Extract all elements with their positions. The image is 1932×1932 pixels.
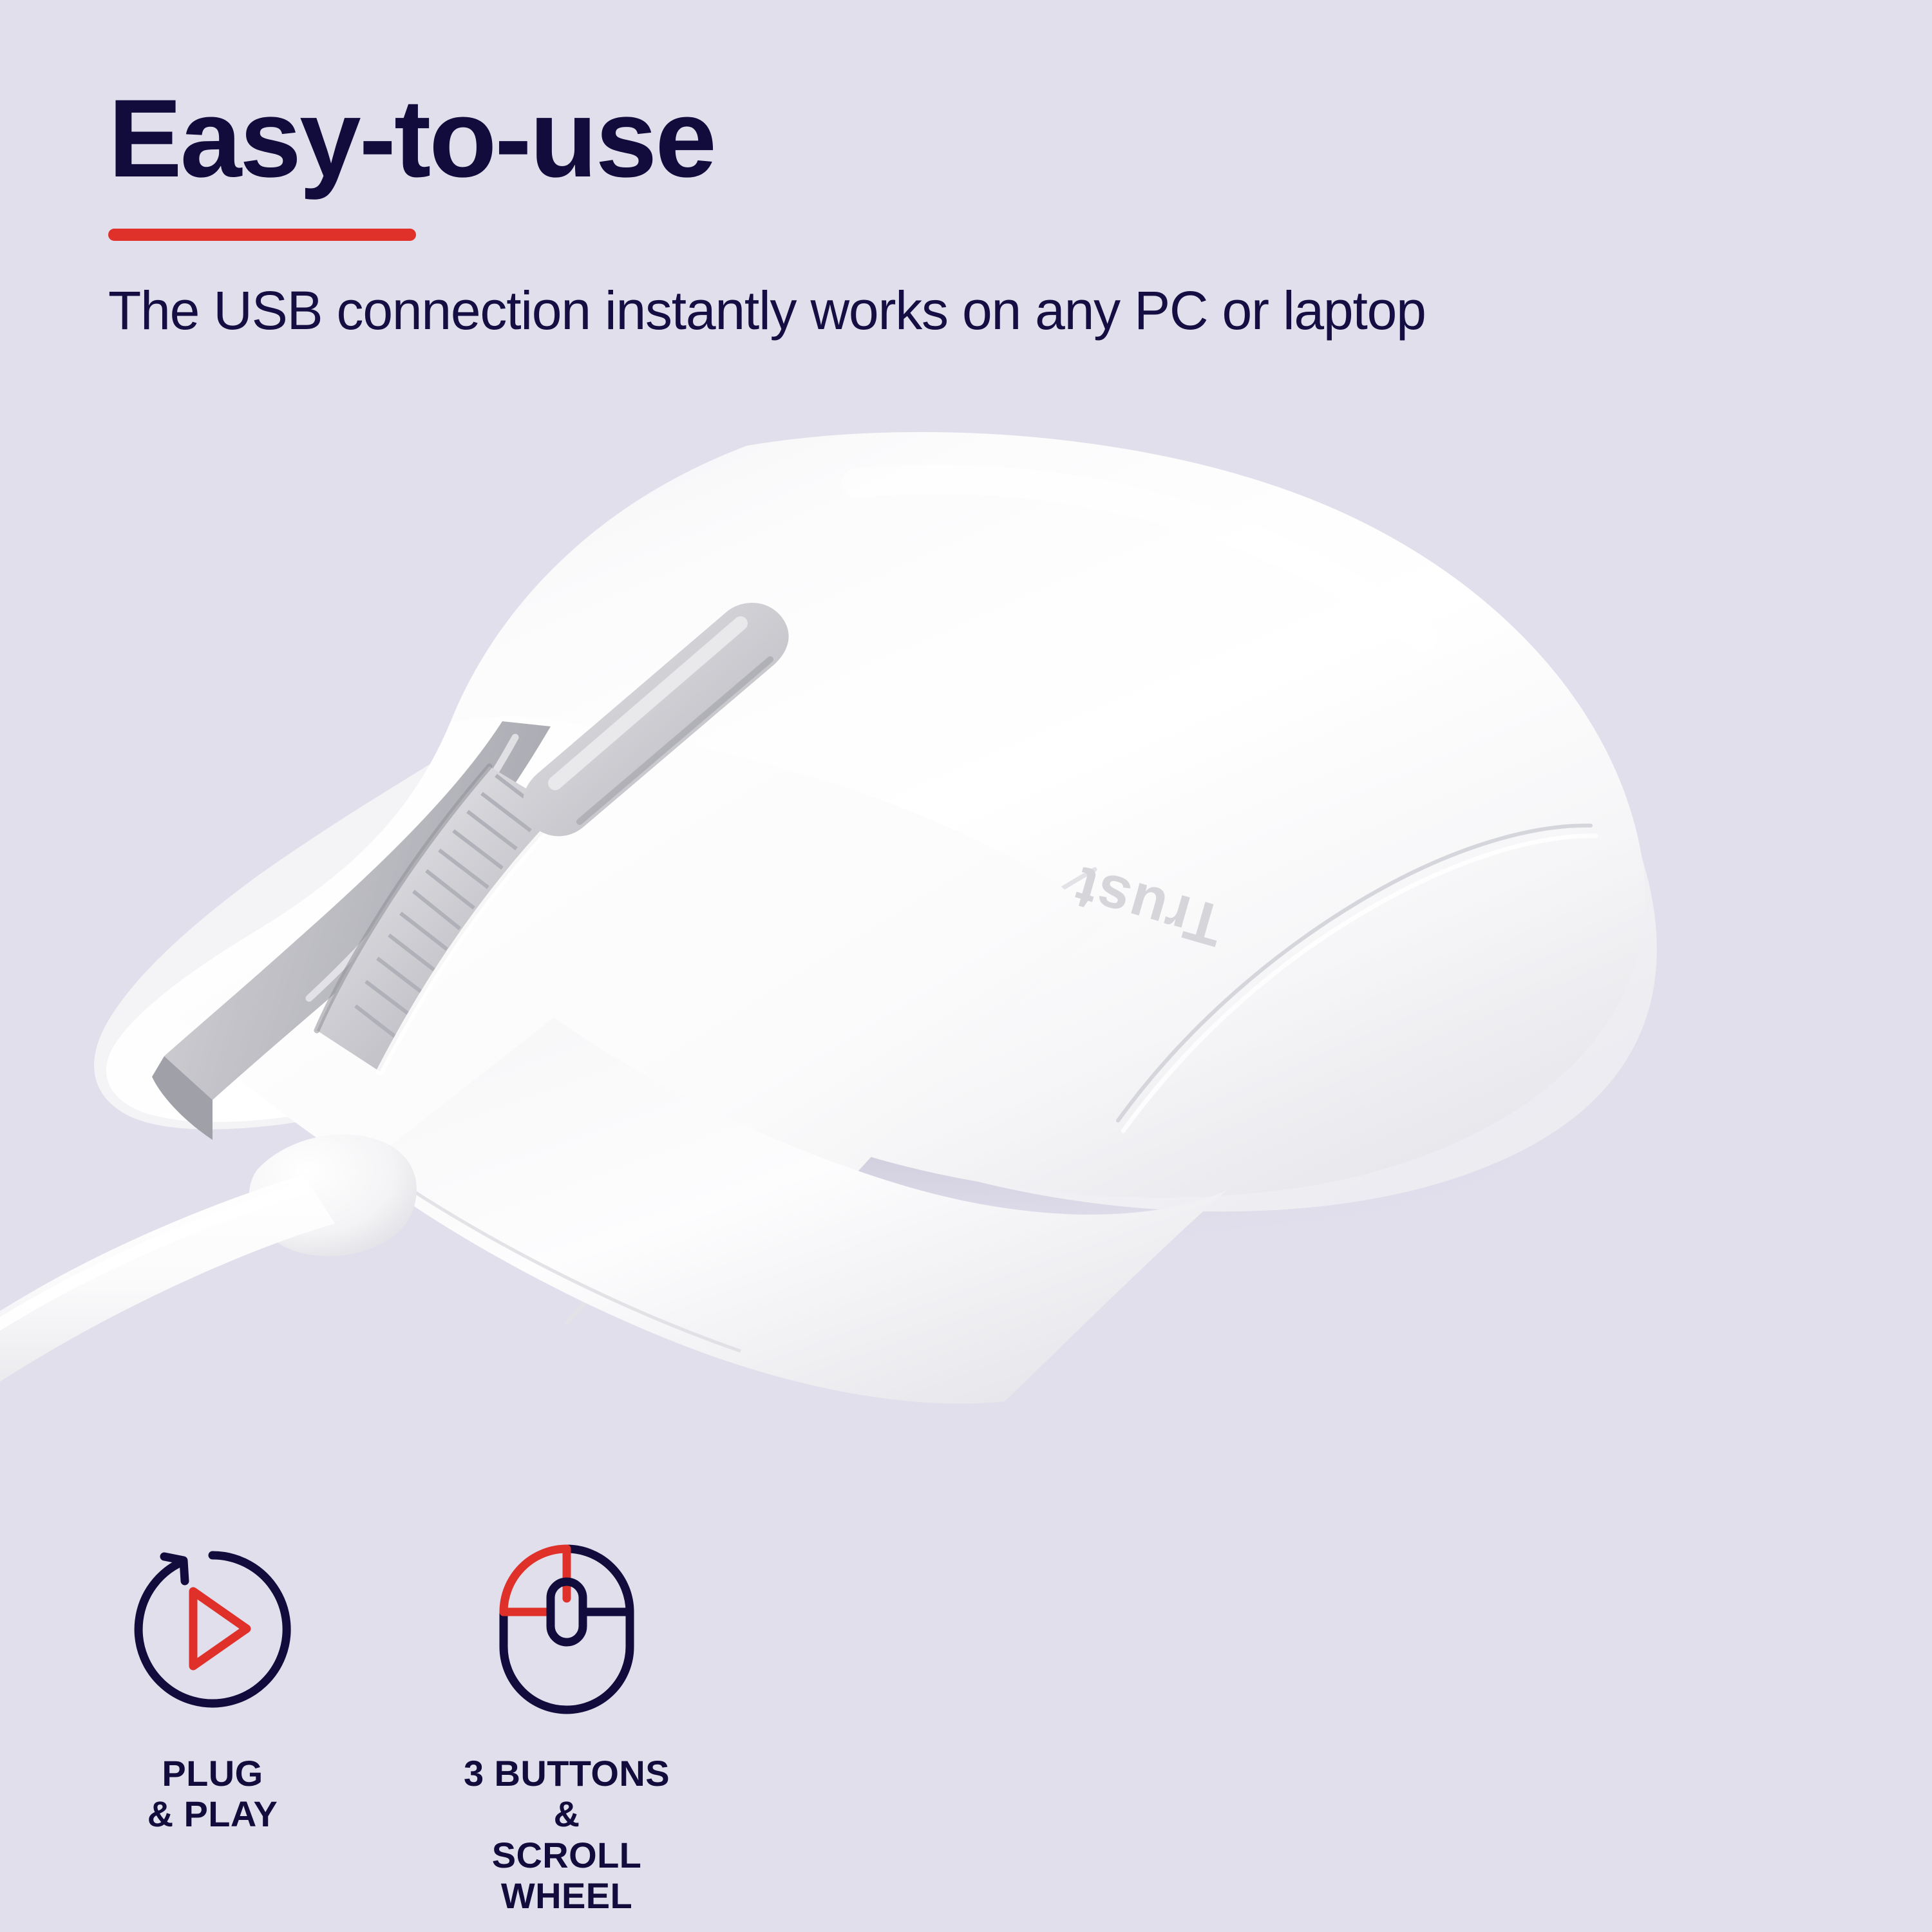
header: Easy-to-use The USB connection instantly… <box>108 82 1783 341</box>
feature-item-plug-and-play: PLUG & PLAY <box>97 1533 328 1916</box>
feature-label: PLUG & PLAY <box>147 1753 278 1835</box>
feature-list: PLUG & PLAY 3 <box>97 1533 683 1916</box>
accent-rule <box>108 229 416 241</box>
product-feature-panel: Easy-to-use The USB connection instantly… <box>0 0 1932 1932</box>
feature-item-buttons-wheel: 3 BUTTONS & SCROLL WHEEL <box>451 1533 683 1916</box>
feature-label: 3 BUTTONS & SCROLL WHEEL <box>451 1753 683 1916</box>
usb-cable <box>0 1175 335 1436</box>
page-subtitle: The USB connection instantly works on an… <box>108 281 1783 340</box>
page-title: Easy-to-use <box>108 82 1783 195</box>
mouse-buttons-icon <box>470 1533 663 1726</box>
product-image: Trust <box>0 386 1932 1513</box>
plug-and-play-icon <box>116 1533 309 1726</box>
